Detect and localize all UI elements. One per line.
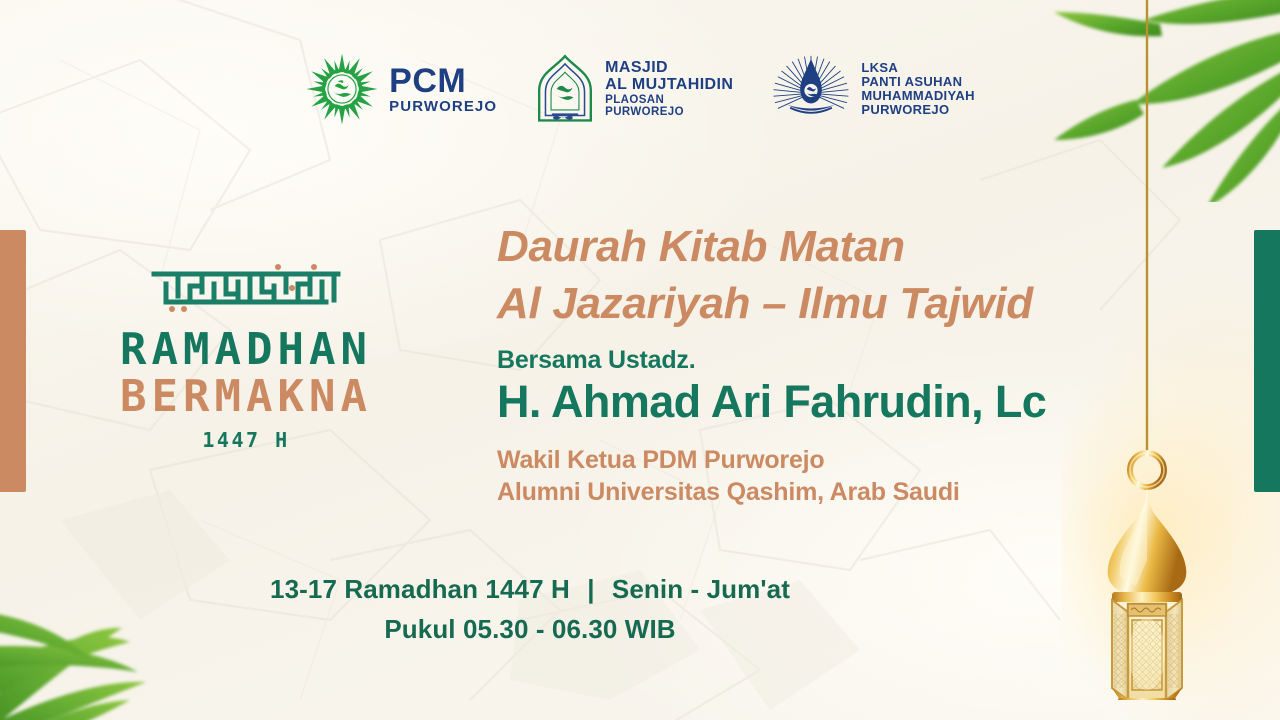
schedule-days: Senin - Jum'at <box>612 574 790 604</box>
logo-masjid-line1: MASJID <box>605 60 733 77</box>
logo-lksa-line1: LKSA <box>861 61 975 75</box>
logo-pcm: PCM PURWOREJO <box>305 52 497 126</box>
mosque-arch-emblem-icon <box>535 54 595 124</box>
brand-year: 1447 H <box>96 428 396 452</box>
ramadhan-event-poster: PCM PURWOREJO MASJID AL M <box>0 0 1280 720</box>
schedule-block: 13-17 Ramadhan 1447 H | Senin - Jum'at P… <box>0 574 1060 645</box>
lksa-sunburst-emblem-icon <box>771 53 851 125</box>
schedule-date-line: 13-17 Ramadhan 1447 H | Senin - Jum'at <box>0 574 1060 605</box>
left-accent-bar <box>0 230 26 492</box>
ramadhan-bermakna-brand-block: RAMADHAN BERMAKNA 1447 H <box>96 262 396 452</box>
logo-lksa-line4: PURWOREJO <box>861 103 975 117</box>
logo-lksa-text: LKSA PANTI ASUHAN MUHAMMADIYAH PURWOREJO <box>861 61 975 116</box>
logo-lksa-line3: MUHAMMADIYAH <box>861 89 975 103</box>
kufic-ramadan-kareem-calligraphy-icon <box>146 262 346 314</box>
brand-word-bermakna: BERMAKNA <box>96 371 396 422</box>
schedule-separator: | <box>577 574 604 604</box>
right-accent-bar <box>1254 230 1280 492</box>
logo-lksa-line2: PANTI ASUHAN <box>861 75 975 89</box>
logo-masjid-line2: AL MUJTAHIDIN <box>605 77 733 94</box>
schedule-date: 13-17 Ramadhan 1447 H <box>270 574 570 604</box>
logo-masjid-line4: PURWOREJO <box>605 106 733 118</box>
logo-masjid-al-mujtahidin: MASJID AL MUJTAHIDIN PLAOSAN PURWOREJO <box>535 54 733 124</box>
logo-lksa: LKSA PANTI ASUHAN MUHAMMADIYAH PURWOREJO <box>771 53 975 125</box>
muhammadiyah-sun-emblem-icon <box>305 52 379 126</box>
logo-masjid-text: MASJID AL MUJTAHIDIN PLAOSAN PURWOREJO <box>605 60 733 118</box>
logo-pcm-name: PCM <box>389 63 497 99</box>
logo-masjid-line3: PLAOSAN <box>605 94 733 106</box>
brand-word-ramadhan: RAMADHAN <box>96 324 396 375</box>
schedule-time: Pukul 05.30 - 06.30 WIB <box>0 614 1060 645</box>
golden-hanging-lantern-icon <box>1062 0 1232 700</box>
logo-pcm-text: PCM PURWOREJO <box>389 63 497 115</box>
logo-pcm-sub: PURWOREJO <box>389 99 497 115</box>
